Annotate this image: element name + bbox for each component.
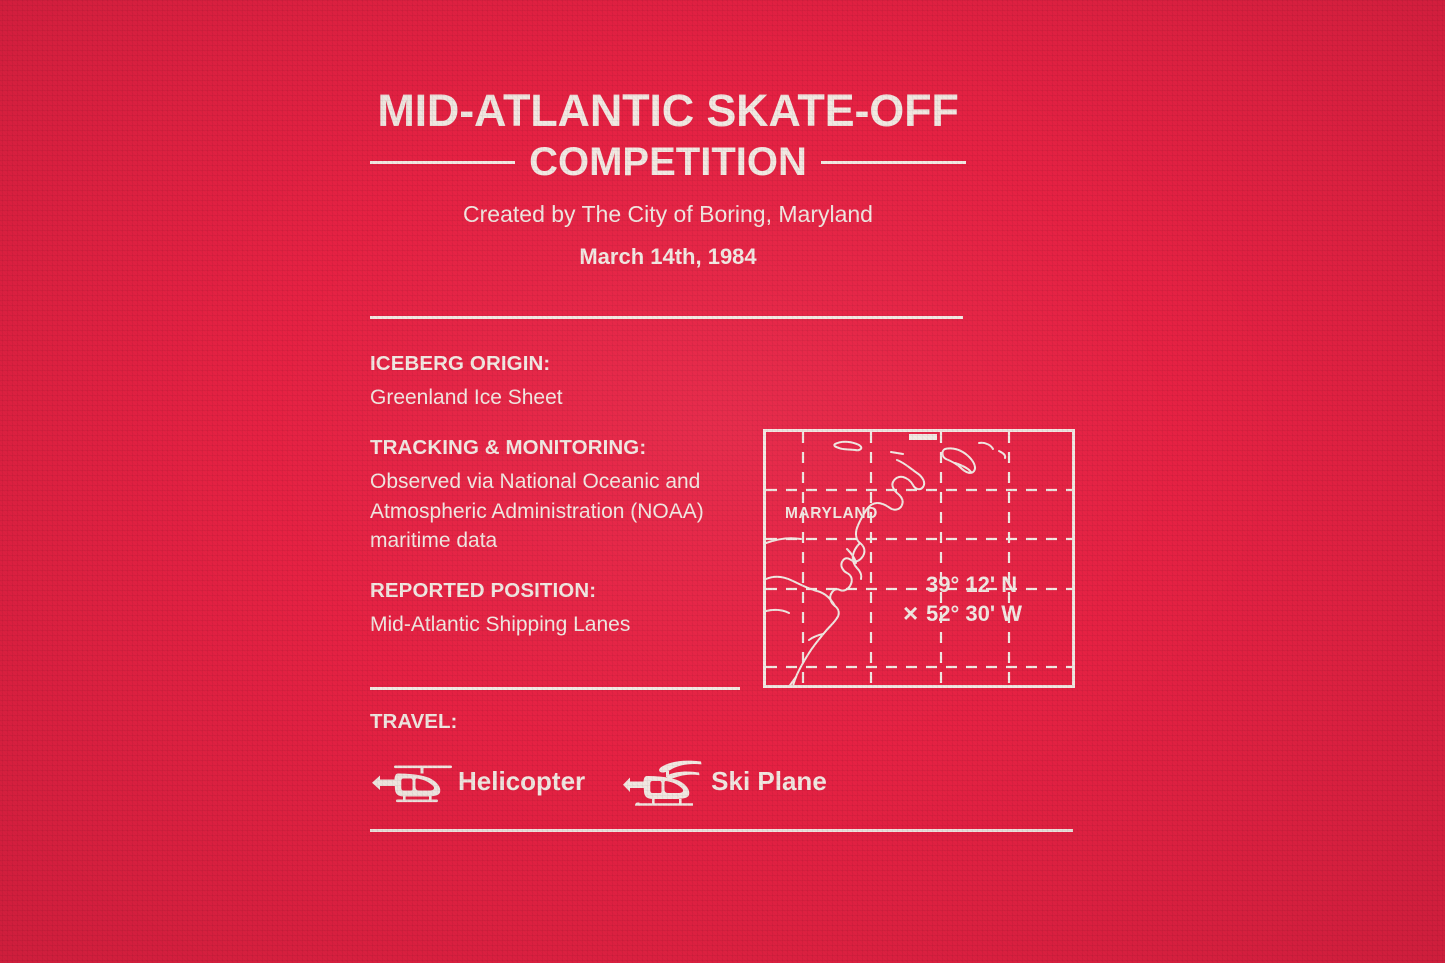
title-rule-left [370, 161, 515, 164]
travel-options: Helicopter [370, 755, 827, 807]
detail-value: Greenland Ice Sheet [370, 383, 750, 413]
poster-canvas: MID-ATLANTIC SKATE-OFF COMPETITION Creat… [0, 0, 1445, 963]
map-longitude-label: 52° 30' W [926, 601, 1022, 626]
detail-value: Mid-Atlantic Shipping Lanes [370, 610, 750, 640]
page-subtitle-title: COMPETITION [529, 142, 807, 182]
page-title: MID-ATLANTIC SKATE-OFF [370, 88, 966, 133]
travel-option-ski-plane[interactable]: Ski Plane [621, 755, 827, 807]
detail-iceberg-origin: ICEBERG ORIGIN: Greenland Ice Sheet [370, 352, 750, 413]
detail-tracking-monitoring: TRACKING & MONITORING: Observed via Nati… [370, 436, 750, 556]
poster-subtitle: Created by The City of Boring, Maryland [370, 201, 966, 228]
travel-section: TRAVEL: [370, 710, 827, 807]
detail-label: TRACKING & MONITORING: [370, 436, 750, 460]
detail-reported-position: REPORTED POSITION: Mid-Atlantic Shipping… [370, 579, 750, 640]
travel-option-label: Helicopter [458, 766, 585, 797]
poster-header: MID-ATLANTIC SKATE-OFF COMPETITION Creat… [370, 88, 966, 270]
map-position-marker: × [903, 598, 918, 628]
map-latitude-label: 39° 12' N [926, 572, 1017, 597]
divider-bottom [370, 829, 1073, 832]
travel-option-helicopter[interactable]: Helicopter [370, 759, 585, 803]
map-region-label: MARYLAND [785, 505, 878, 522]
title-rule-right [821, 161, 966, 164]
travel-option-label: Ski Plane [711, 766, 827, 797]
detail-label: REPORTED POSITION: [370, 579, 750, 603]
details-list: ICEBERG ORIGIN: Greenland Ice Sheet TRAC… [370, 352, 750, 640]
divider-top [370, 316, 963, 319]
helicopter-icon [370, 759, 454, 803]
title-secondary-row: COMPETITION [370, 142, 966, 182]
ski-plane-icon [621, 755, 707, 807]
divider-travel [370, 687, 740, 690]
detail-label: ICEBERG ORIGIN: [370, 352, 750, 376]
detail-value: Observed via National Oceanic and Atmosp… [370, 467, 750, 556]
travel-label: TRAVEL: [370, 710, 827, 734]
poster-date: March 14th, 1984 [370, 244, 966, 270]
map-panel[interactable]: MARYLAND × 39° 12' N 52° 30' W [763, 429, 1075, 688]
